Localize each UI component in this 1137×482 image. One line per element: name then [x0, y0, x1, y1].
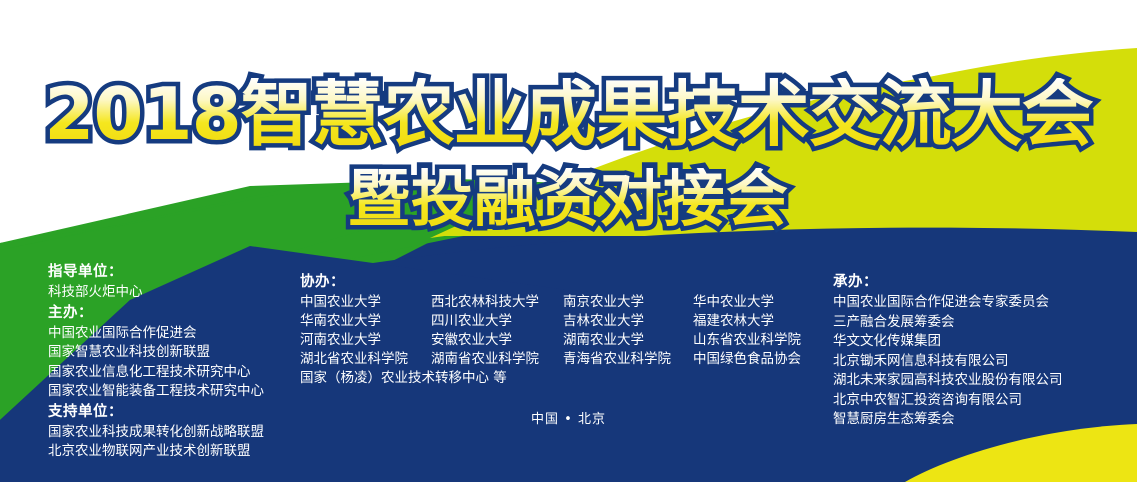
- guidance-unit-item-0: 科技部火炬中心: [48, 283, 264, 303]
- column-left: 指导单位： 科技部火炬中心 主办： 中国农业国际合作促进会 国家智慧农业科技创新…: [48, 262, 264, 462]
- co-organizer-cell: 中国绿色食品协会: [693, 350, 801, 369]
- label-guidance-unit: 指导单位：: [48, 262, 264, 283]
- organizer-item-1: 国家智慧农业科技创新联盟: [48, 343, 264, 363]
- organizer-item-3: 国家农业智能装备工程技术研究中心: [48, 382, 264, 402]
- organizer-item-2: 国家农业信息化工程技术研究中心: [48, 363, 264, 383]
- column-middle: 协办： 中国农业大学 西北农林科技大学 南京农业大学 华中农业大学 华南农业大学…: [300, 272, 801, 388]
- co-organizer-cell: 安徽农业大学: [431, 331, 563, 350]
- label-host: 承办：: [833, 272, 1063, 293]
- conference-banner: 2018智慧农业成果技术交流大会 2018智慧农业成果技术交流大会 暨投融资对接…: [0, 0, 1137, 482]
- co-organizer-cell: 中国农业大学: [300, 293, 431, 312]
- co-organizer-cell: 河南农业大学: [300, 331, 431, 350]
- co-organizer-cell: 西北农林科技大学: [431, 293, 563, 312]
- co-organizer-row: 中国农业大学 西北农林科技大学 南京农业大学 华中农业大学: [300, 293, 801, 312]
- co-organizer-cell: 青海省农业科学院: [563, 350, 693, 369]
- label-organizer: 主办：: [48, 303, 264, 324]
- co-organizer-cell: 四川农业大学: [431, 312, 563, 331]
- co-organizer-cell: 福建农林大学: [693, 312, 774, 331]
- host-item-4: 湖北未来家园高科技农业股份有限公司: [833, 371, 1063, 391]
- host-item-1: 三产融合发展筹委会: [833, 313, 1063, 333]
- co-organizer-cell: 湖南省农业科学院: [431, 350, 563, 369]
- support-unit-item-1: 北京农业物联网产业技术创新联盟: [48, 442, 264, 462]
- co-organizer-row: 湖北省农业科学院 湖南省农业科学院 青海省农业科学院 中国绿色食品协会: [300, 350, 801, 369]
- co-organizer-cell: 华中农业大学: [693, 293, 774, 312]
- host-item-0: 中国农业国际合作促进会专家委员会: [833, 293, 1063, 313]
- label-co-organizer: 协办：: [300, 272, 801, 293]
- co-organizer-cell: 山东省农业科学院: [693, 331, 801, 350]
- column-right: 承办： 中国农业国际合作促进会专家委员会 三产融合发展筹委会 华文文化传媒集团 …: [833, 272, 1063, 430]
- host-item-3: 北京锄禾网信息科技有限公司: [833, 352, 1063, 372]
- co-organizer-cell: 湖南农业大学: [563, 331, 693, 350]
- co-organizer-cell: 南京农业大学: [563, 293, 693, 312]
- co-organizer-cell: 国家（杨凌）农业技术转移中心 等: [300, 369, 507, 388]
- host-item-2: 华文文化传媒集团: [833, 332, 1063, 352]
- location-text: 中国 • 北京: [0, 408, 1137, 427]
- co-organizer-row: 河南农业大学 安徽农业大学 湖南农业大学 山东省农业科学院: [300, 331, 801, 350]
- organizer-item-0: 中国农业国际合作促进会: [48, 324, 264, 344]
- co-organizer-row: 国家（杨凌）农业技术转移中心 等: [300, 369, 801, 388]
- co-organizer-row: 华南农业大学 四川农业大学 吉林农业大学 福建农林大学: [300, 312, 801, 331]
- co-organizer-cell: 吉林农业大学: [563, 312, 693, 331]
- co-organizer-cell: 华南农业大学: [300, 312, 431, 331]
- co-organizer-cell: 湖北省农业科学院: [300, 350, 431, 369]
